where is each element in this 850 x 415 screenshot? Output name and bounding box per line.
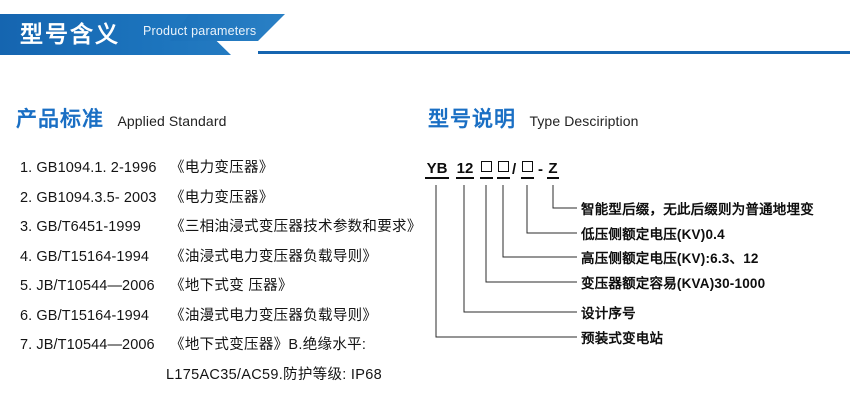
type-description-heading: 型号说明 Type Desciription	[428, 103, 639, 133]
product-parameters-page: 型号含义 Product parameters 产品标准 Applied Sta…	[0, 0, 850, 415]
list-item: 6. GB/T15164-1994 《油漫式电力变压器负载导则》	[20, 304, 420, 334]
applied-standard-heading: 产品标准 Applied Standard	[16, 103, 226, 133]
callout-suffix: 智能型后缀，无此后缀则为普通地埋变	[581, 198, 814, 218]
banner-subtitle: Product parameters	[143, 24, 256, 38]
callout-lv-voltage: 低压侧额定电压(KV)0.4	[581, 223, 725, 243]
standard-code: 3. GB/T6451-1999	[20, 219, 166, 235]
standard-name: 《油漫式电力变压器负载导则》	[170, 308, 377, 324]
leader-line-hv-voltage	[503, 185, 577, 257]
type-description-heading-en: Type Desciription	[529, 113, 638, 129]
standard-name: 《三相油浸式变压器技术参数和要求》	[170, 219, 422, 235]
banner-title: 型号含义	[20, 21, 120, 48]
list-item: 2. GB1094.3.5- 2003 《电力变压器》	[20, 186, 420, 216]
applied-standard-heading-cn: 产品标准	[16, 108, 104, 131]
list-item: 3. GB/T6451-1999 《三相油浸式变压器技术参数和要求》	[20, 215, 420, 245]
list-item: 1. GB1094.1. 2-1996 《电力变压器》	[20, 156, 420, 186]
standards-list: 1. GB1094.1. 2-1996 《电力变压器》 2. GB1094.3.…	[20, 156, 420, 392]
standard-code: 4. GB/T15164-1994	[20, 249, 166, 265]
list-item: 7. JB/T10544—2006 《地下式变压器》B.绝缘水平:	[20, 333, 420, 363]
banner-underline-rule	[258, 51, 850, 54]
standard-name: 《地下式变 压器》	[170, 278, 293, 294]
standard-code: 7. JB/T10544—2006	[20, 337, 166, 353]
leader-line-lv-voltage	[527, 185, 577, 233]
leader-line-design-serial	[464, 185, 577, 312]
standard-name: 《电力变压器》	[170, 160, 274, 176]
standard-code: 6. GB/T15164-1994	[20, 308, 166, 324]
applied-standard-heading-en: Applied Standard	[117, 113, 226, 129]
type-description-heading-cn: 型号说明	[428, 108, 516, 131]
standard-name: 《电力变压器》	[170, 190, 274, 206]
standard-name: 《油浸式电力变压器负载导则》	[170, 249, 377, 265]
standard-code: 5. JB/T10544—2006	[20, 278, 166, 294]
list-item: 4. GB/T15164-1994 《油浸式电力变压器负载导则》	[20, 245, 420, 275]
standard-code: 1. GB1094.1. 2-1996	[20, 160, 166, 176]
list-item: 5. JB/T10544—2006 《地下式变 压器》	[20, 274, 420, 304]
callout-design-serial: 设计序号	[581, 302, 636, 322]
standard-name: 《地下式变压器》B.绝缘水平:	[170, 337, 366, 353]
leader-line-suffix	[553, 185, 577, 208]
callout-hv-voltage: 高压侧额定电压(KV):6.3、12	[581, 247, 759, 267]
callout-capacity: 变压器额定容易(KVA)30-1000	[581, 272, 765, 292]
standard-continuation-line: L175AC35/AC59.防护等级: IP68	[20, 363, 420, 393]
standard-code: 2. GB1094.3.5- 2003	[20, 190, 166, 206]
callout-substation: 预装式变电站	[581, 327, 663, 347]
